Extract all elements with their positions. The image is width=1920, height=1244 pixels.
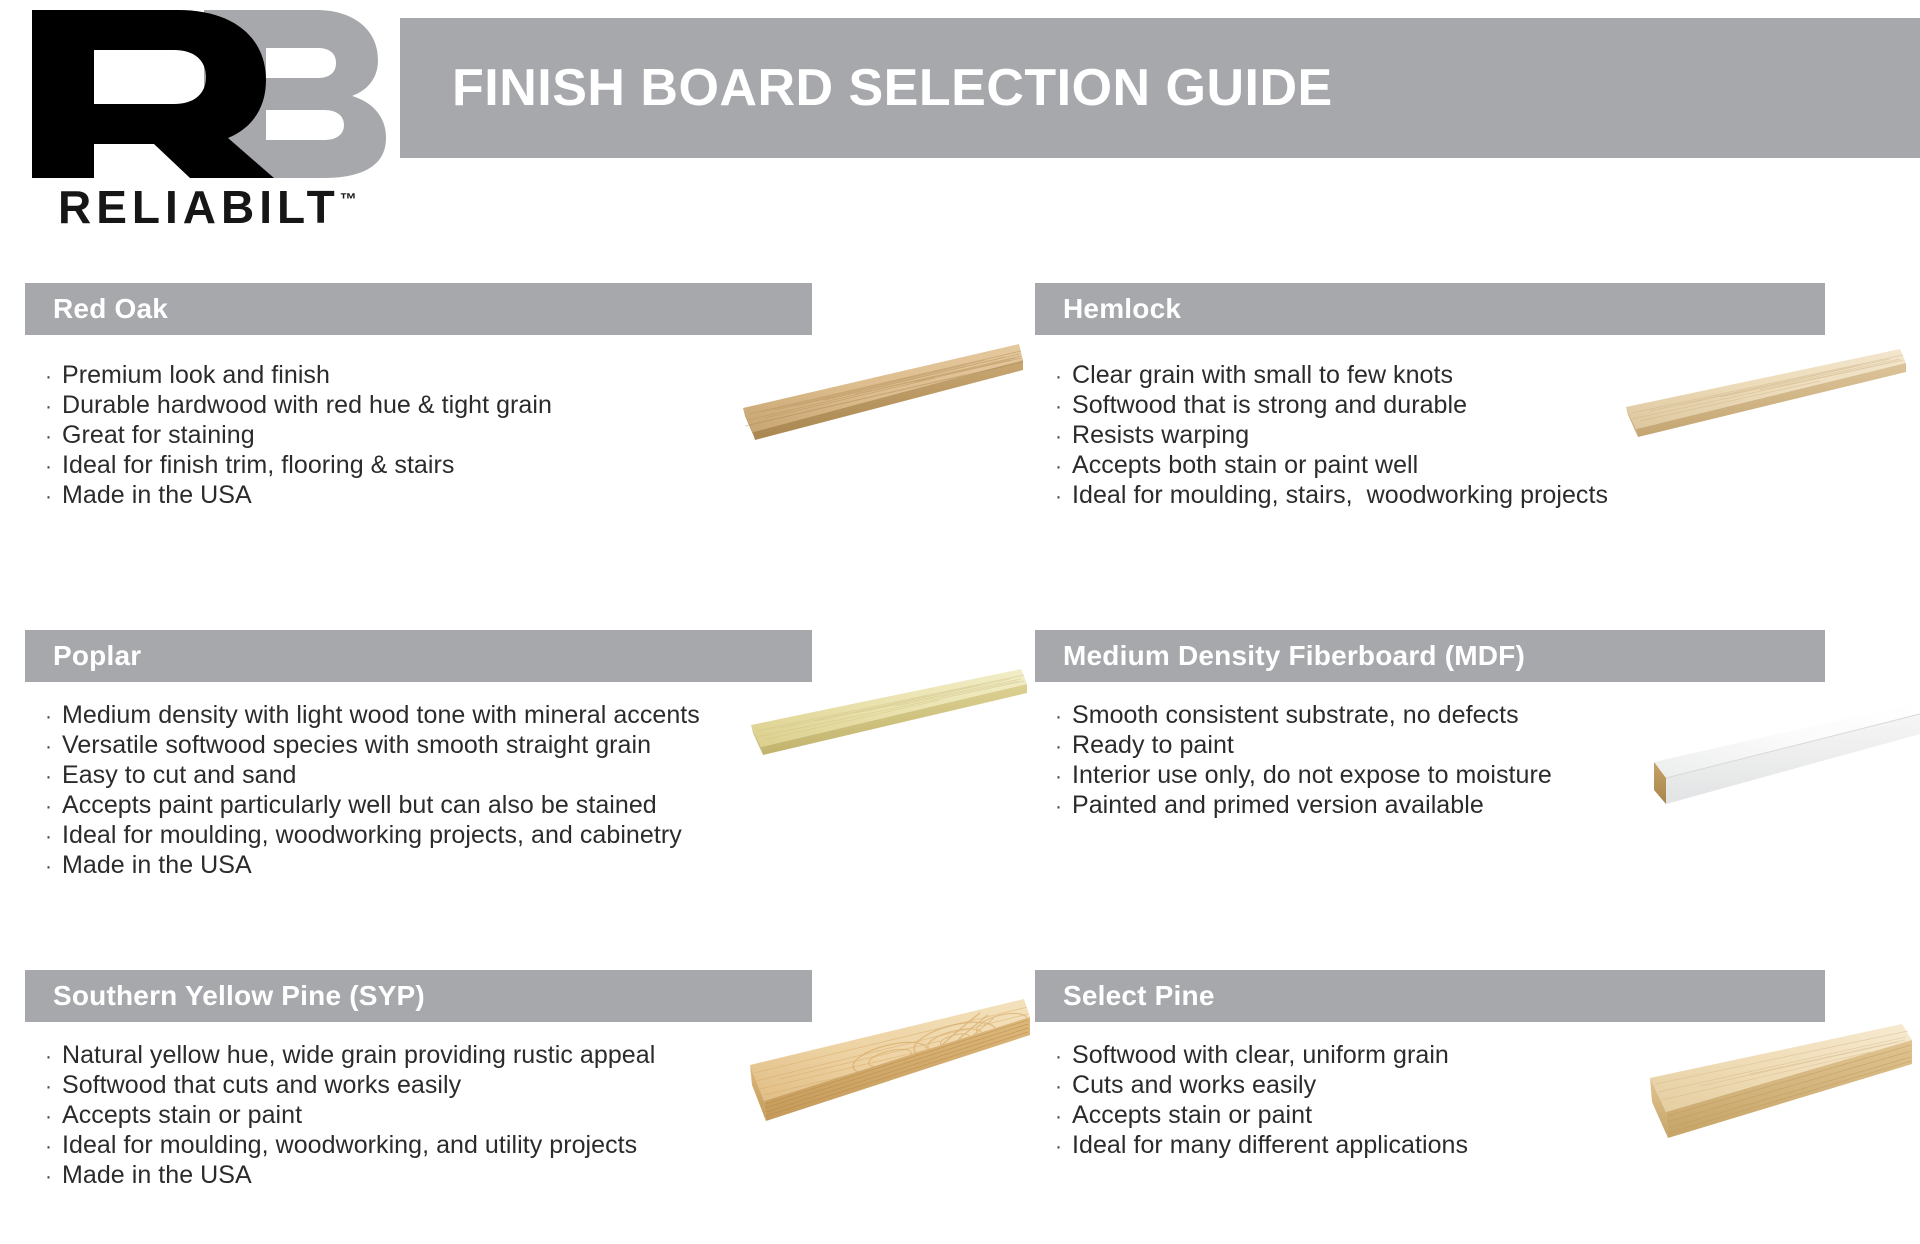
species-header-southern-yellow-pine: Southern Yellow Pine (SYP): [25, 970, 812, 1022]
list-item: · Made in the USA: [45, 480, 552, 510]
list-item: · Natural yellow hue, wide grain providi…: [45, 1040, 655, 1070]
list-item: · Painted and primed version available: [1055, 790, 1552, 820]
bullet-dot-icon: ·: [1055, 1132, 1072, 1162]
list-item: · Great for staining: [45, 420, 552, 450]
list-item: · Softwood with clear, uniform grain: [1055, 1040, 1468, 1070]
list-item: · Cuts and works easily: [1055, 1070, 1468, 1100]
bullet-dot-icon: ·: [1055, 362, 1072, 392]
poplar-board-image: [745, 665, 1030, 770]
bullet-dot-icon: ·: [45, 762, 62, 792]
bullet-dot-icon: ·: [45, 482, 62, 512]
bullet-dot-icon: ·: [45, 422, 62, 452]
list-item: · Made in the USA: [45, 1160, 655, 1190]
species-card-select-pine: Select Pine · Softwood with clear, unifo…: [1035, 970, 1920, 1022]
reliabilt-logo: RELIABILT™: [28, 8, 408, 230]
bullet-dot-icon: ·: [45, 792, 62, 822]
species-title-select-pine: Select Pine: [1063, 980, 1215, 1012]
list-item: · Accepts stain or paint: [1055, 1100, 1468, 1130]
bullet-dot-icon: ·: [45, 702, 62, 732]
species-title-hemlock: Hemlock: [1063, 293, 1181, 325]
list-item: · Softwood that cuts and works easily: [45, 1070, 655, 1100]
list-item: · Interior use only, do not expose to mo…: [1055, 760, 1552, 790]
bullet-dot-icon: ·: [45, 362, 62, 392]
list-item: · Ideal for moulding, woodworking projec…: [45, 820, 700, 850]
list-item: · Clear grain with small to few knots: [1055, 360, 1608, 390]
species-title-poplar: Poplar: [53, 640, 141, 672]
page-masthead: RELIABILT™ FINISH BOARD SELECTION GUIDE: [0, 0, 1920, 210]
guide-title-bar: FINISH BOARD SELECTION GUIDE: [400, 18, 1920, 158]
species-title-southern-yellow-pine: Southern Yellow Pine (SYP): [53, 980, 425, 1012]
bullet-dot-icon: ·: [45, 1132, 62, 1162]
hemlock-board-image: [1620, 345, 1910, 450]
list-item: · Ready to paint: [1055, 730, 1552, 760]
species-header-poplar: Poplar: [25, 630, 812, 682]
list-item: · Ideal for many different applications: [1055, 1130, 1468, 1160]
list-item: · Ideal for moulding, woodworking, and u…: [45, 1130, 655, 1160]
list-item: · Softwood that is strong and durable: [1055, 390, 1608, 420]
bullet-dot-icon: ·: [1055, 1102, 1072, 1132]
list-item: · Premium look and finish: [45, 360, 552, 390]
list-item: · Ideal for finish trim, flooring & stai…: [45, 450, 552, 480]
species-bullets-select-pine: · Softwood with clear, uniform grain · C…: [1055, 1040, 1468, 1160]
species-header-select-pine: Select Pine: [1035, 970, 1825, 1022]
list-item: · Made in the USA: [45, 850, 700, 880]
bullet-dot-icon: ·: [1055, 482, 1072, 512]
bullet-dot-icon: ·: [45, 852, 62, 882]
species-header-mdf: Medium Density Fiberboard (MDF): [1035, 630, 1825, 682]
list-item: · Accepts paint particularly well but ca…: [45, 790, 700, 820]
species-card-hemlock: Hemlock · Clear grain with small to few …: [1035, 283, 1920, 335]
bullet-dot-icon: ·: [1055, 702, 1072, 732]
select-pine-board-image: [1640, 1020, 1920, 1145]
list-item: · Durable hardwood with red hue & tight …: [45, 390, 552, 420]
species-bullets-southern-yellow-pine: · Natural yellow hue, wide grain providi…: [45, 1040, 655, 1190]
red-oak-board-image: [735, 340, 1025, 450]
bullet-dot-icon: ·: [1055, 392, 1072, 422]
bullet-dot-icon: ·: [45, 1162, 62, 1192]
species-title-mdf: Medium Density Fiberboard (MDF): [1063, 640, 1525, 672]
list-item: · Resists warping: [1055, 420, 1608, 450]
list-item: · Accepts stain or paint: [45, 1100, 655, 1130]
trademark-symbol: ™: [340, 190, 357, 209]
species-card-mdf: Medium Density Fiberboard (MDF) · Smooth…: [1035, 630, 1920, 682]
wordmark-text: RELIABILT: [58, 181, 340, 233]
bullet-dot-icon: ·: [45, 1102, 62, 1132]
bullet-dot-icon: ·: [45, 1072, 62, 1102]
bullet-dot-icon: ·: [1055, 422, 1072, 452]
bullet-dot-icon: ·: [45, 732, 62, 762]
bullet-dot-icon: ·: [45, 1042, 62, 1072]
species-bullets-poplar: · Medium density with light wood tone wi…: [45, 700, 700, 880]
mdf-board-image: [1640, 700, 1920, 810]
list-item: · Ideal for moulding, stairs, woodworkin…: [1055, 480, 1608, 510]
species-header-hemlock: Hemlock: [1035, 283, 1825, 335]
species-header-red-oak: Red Oak: [25, 283, 812, 335]
species-card-red-oak: Red Oak · Premium look and finish · Dura…: [25, 283, 1010, 335]
bullet-dot-icon: ·: [1055, 792, 1072, 822]
bullet-dot-icon: ·: [1055, 1072, 1072, 1102]
list-item: · Easy to cut and sand: [45, 760, 700, 790]
list-item: · Medium density with light wood tone wi…: [45, 700, 700, 730]
bullet-dot-icon: ·: [1055, 762, 1072, 792]
species-bullets-mdf: · Smooth consistent substrate, no defect…: [1055, 700, 1552, 820]
reliabilt-wordmark: RELIABILT™: [58, 184, 357, 230]
species-title-red-oak: Red Oak: [53, 293, 168, 325]
bullet-dot-icon: ·: [1055, 1042, 1072, 1072]
species-bullets-hemlock: · Clear grain with small to few knots · …: [1055, 360, 1608, 510]
list-item: · Accepts both stain or paint well: [1055, 450, 1608, 480]
bullet-dot-icon: ·: [45, 452, 62, 482]
bullet-dot-icon: ·: [45, 822, 62, 852]
page-title: FINISH BOARD SELECTION GUIDE: [452, 58, 1333, 118]
rb-monogram-icon: [28, 8, 388, 180]
southern-yellow-pine-board-image: [740, 995, 1035, 1130]
list-item: · Versatile softwood species with smooth…: [45, 730, 700, 760]
species-bullets-red-oak: · Premium look and finish · Durable hard…: [45, 360, 552, 510]
bullet-dot-icon: ·: [45, 392, 62, 422]
bullet-dot-icon: ·: [1055, 732, 1072, 762]
bullet-dot-icon: ·: [1055, 452, 1072, 482]
list-item: · Smooth consistent substrate, no defect…: [1055, 700, 1552, 730]
